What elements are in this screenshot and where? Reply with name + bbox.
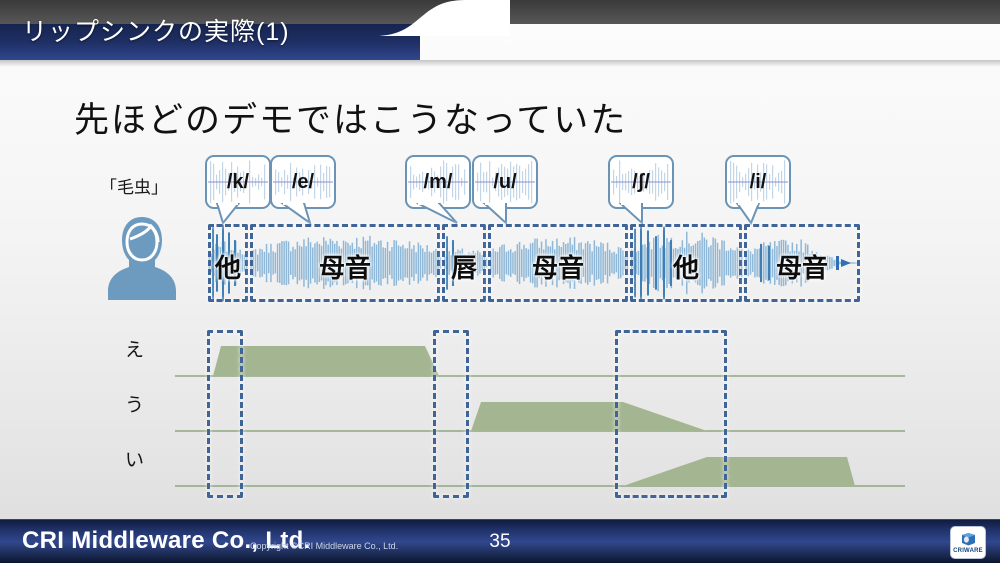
waveform-segment-label: 母音 [488,248,628,285]
phoneme-bubble-body: /k/ [205,155,271,209]
phoneme-symbol: /u/ [474,157,536,207]
chart-segment-box[interactable] [433,330,469,498]
vowel-row-label: う [125,390,144,417]
phoneme-bubble[interactable]: /u/ [472,155,534,213]
waveform-segment-label: 他 [630,248,742,285]
phoneme-bubble-tail [476,203,532,225]
phoneme-bubble[interactable]: /e/ [270,155,332,213]
vowel-weight-chart: えうい [175,330,905,498]
phoneme-bubble-body: /ʃ/ [608,155,674,209]
phoneme-bubble-tail [612,203,668,225]
phoneme-symbol: /k/ [207,157,269,207]
criware-logo: CRIWARE [950,526,986,559]
criware-logo-text: CRIWARE [953,548,983,554]
waveform-segment-label: 他 [208,248,248,285]
chart-segment-box[interactable] [615,330,727,498]
phoneme-symbol: /ʃ/ [610,157,672,207]
phoneme-bubble-tail [729,203,785,225]
page-number: 35 [480,531,520,553]
phoneme-symbol: /m/ [407,157,469,207]
phoneme-bubble-body: /u/ [472,155,538,209]
speaker-caption: 「毛虫」 [100,173,168,198]
phoneme-bubble-body: /e/ [270,155,336,209]
vowel-envelope-graphic [175,330,905,498]
cube-icon [960,532,977,547]
waveform-segment-label: 母音 [744,248,860,285]
title-bar-curve [330,0,510,36]
waveform-segment-label: 母音 [250,248,440,285]
speaker-avatar-icon [106,215,178,300]
footer-copyright: Copyright ©CRI Middleware Co., Ltd. [250,541,398,551]
phoneme-bubble[interactable]: /k/ [205,155,267,213]
phoneme-bubble-tail [209,203,265,225]
chart-segment-box[interactable] [207,330,243,498]
vowel-row-label: い [125,445,144,472]
phoneme-bubble[interactable]: /m/ [405,155,467,213]
vowel-envelope-area [213,346,439,376]
slide-canvas: リップシンクの実際(1) 先ほどのデモではこうなっていた 「毛虫」 /k//e/… [0,0,1000,563]
waveform-segment-label: 唇 [442,248,486,285]
phoneme-bubble-group: /k//e//m//u//ʃ//i/ [200,155,860,225]
waveform-panel: 他母音唇母音他母音 [200,224,860,302]
slide-heading: 先ほどのデモではこうなっていた [74,92,627,143]
title-bar-shadow [0,60,1000,67]
phoneme-bubble[interactable]: /i/ [725,155,787,213]
phoneme-bubble[interactable]: /ʃ/ [608,155,670,213]
phoneme-bubble-tail [274,203,330,225]
vowel-row-label: え [125,335,144,362]
page-title: リップシンクの実際(1) [22,12,290,48]
footer-bar: CRI Middleware Co., Ltd. Copyright ©CRI … [0,519,1000,563]
phoneme-symbol: /e/ [272,157,334,207]
phoneme-bubble-body: /m/ [405,155,471,209]
phoneme-symbol: /i/ [727,157,789,207]
phoneme-bubble-tail [409,203,465,225]
phoneme-bubble-body: /i/ [725,155,791,209]
